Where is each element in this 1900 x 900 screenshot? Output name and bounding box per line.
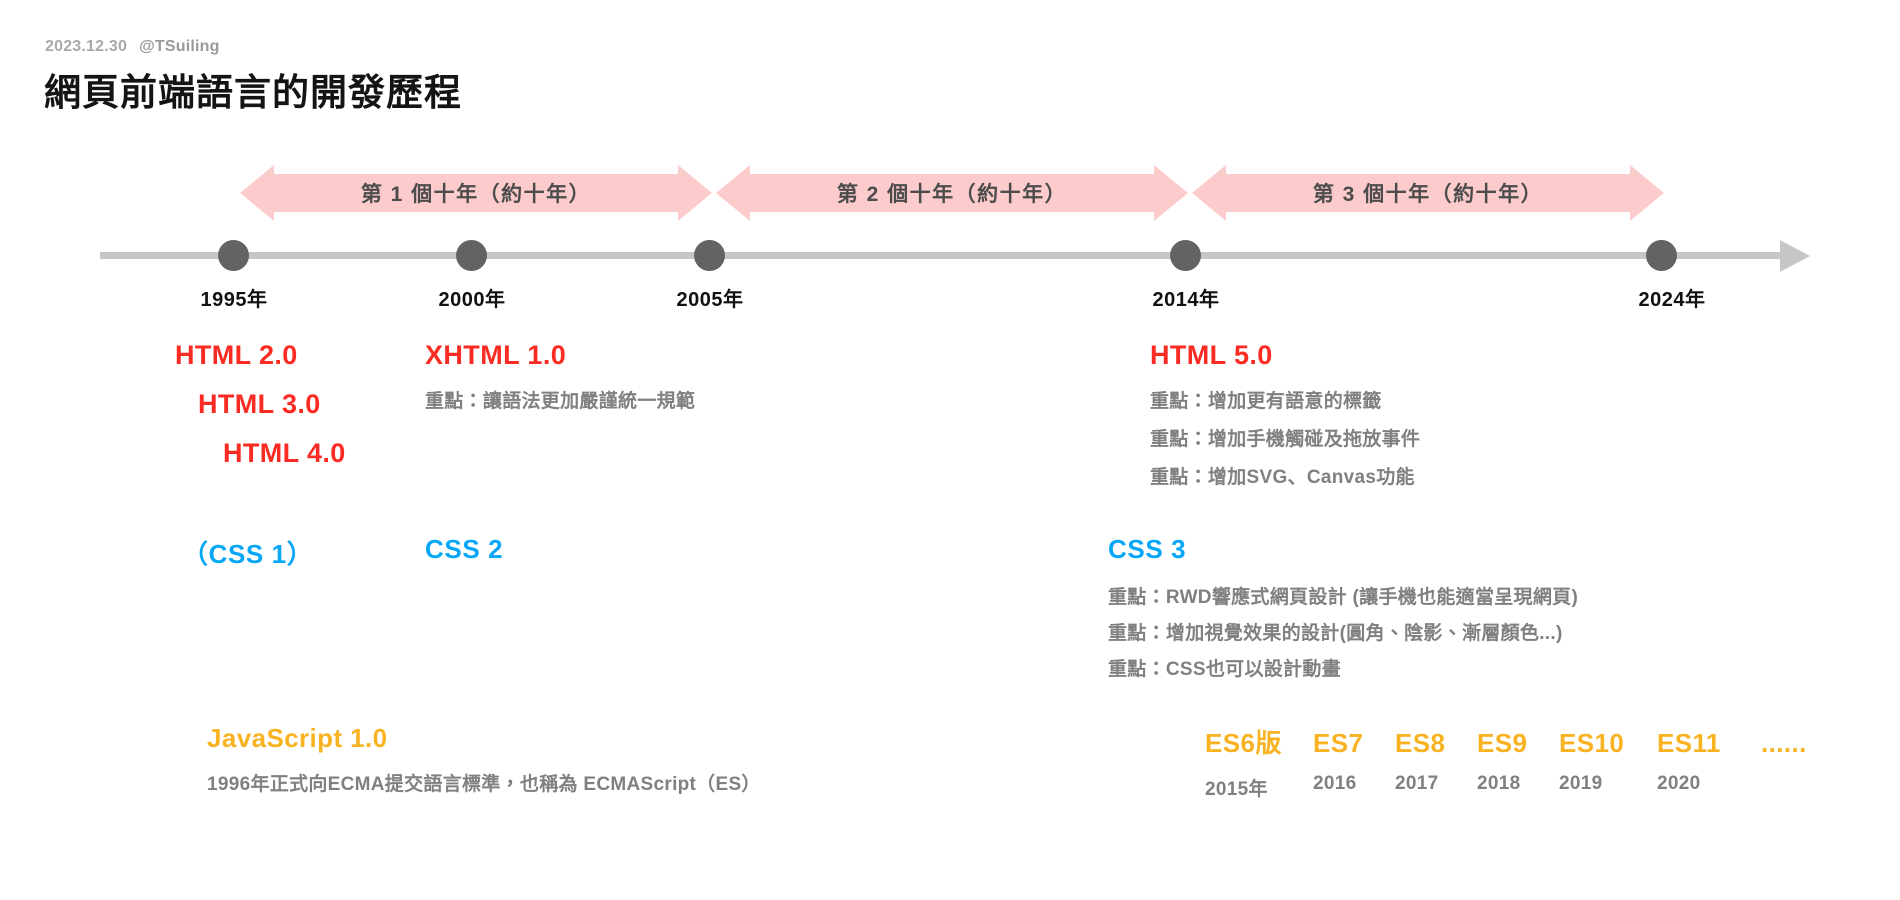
html-version-2: HTML 2.0 [175,340,298,371]
axis-year-label-4: 2014年 [1153,283,1220,312]
es-version-item: ES8 2017 [1395,728,1477,795]
xhtml-note-1: 重點：讓語法更加嚴謹統一規範 [425,382,695,421]
css1-title: （CSS 1） [182,534,313,571]
byline-date: 2023.12.30 [45,38,127,55]
css3-title: CSS 3 [1108,534,1186,565]
css3-note-2: 重點：增加視覺效果的設計(圓角、陰影、漸層顏色...) [1108,614,1563,653]
timeline-axis-line [100,252,1800,259]
timeline-dot-2005 [694,240,725,271]
es-version-year: 2016 [1313,773,1356,795]
javascript-title: JavaScript 1.0 [207,723,388,754]
css3-note-1: 重點：RWD響應式網頁設計 (讓手機也能適當呈現網頁) [1108,578,1578,617]
es-version-item: ES10 2019 [1559,728,1657,795]
axis-year-label-3: 2005年 [677,283,744,312]
es-version-item-ellipsis: ...... [1761,728,1807,773]
es-version-year: 2019 [1559,773,1602,795]
es-version-year: 2020 [1657,773,1700,795]
timeline-dot-1995 [218,240,249,271]
timeline-dot-2000 [456,240,487,271]
timeline-axis-arrowhead-icon [1780,240,1810,272]
decade-band-2: 第 2 個十年（約十年） [716,165,1188,221]
javascript-note: 1996年正式向ECMA提交語言標準，也稱為 ECMAScript（ES） [207,765,761,804]
html-version-4: HTML 4.0 [223,438,346,469]
html5-note-2: 重點：增加手機觸碰及拖放事件 [1150,420,1420,459]
es-version-name: ...... [1761,728,1807,759]
es-version-year: 2017 [1395,773,1438,795]
es-version-name: ES10 [1559,728,1624,759]
es-version-item: ES7 2016 [1313,728,1395,795]
axis-year-label-1: 1995年 [201,283,268,312]
byline: 2023.12.30@TSuiling [45,38,220,56]
css2-title: CSS 2 [425,534,503,565]
es-version-row: ES6版 2015年 ES7 2016 ES8 2017 ES9 2018 ES… [1205,723,1807,801]
es-version-item: ES11 2020 [1657,728,1761,795]
axis-year-label-5: 2024年 [1639,283,1706,312]
html-version-3: HTML 3.0 [198,389,321,420]
es-version-year: 2018 [1477,773,1520,795]
decade-band-3: 第 3 個十年（約十年） [1192,165,1664,221]
es-version-item: ES9 2018 [1477,728,1559,795]
axis-year-label-2: 2000年 [439,283,506,312]
html5-note-3: 重點：增加SVG、Canvas功能 [1150,458,1415,497]
decade-band-1: 第 1 個十年（約十年） [240,165,712,221]
timeline-dot-2024 [1646,240,1677,271]
decade-label-1: 第 1 個十年（約十年） [240,165,712,221]
es-version-name: ES11 [1657,728,1721,759]
es-version-name: ES9 [1477,728,1527,759]
es-version-name: ES8 [1395,728,1445,759]
xhtml-title: XHTML 1.0 [425,340,566,371]
decade-label-2: 第 2 個十年（約十年） [716,165,1188,221]
html5-note-1: 重點：增加更有語意的標籤 [1150,382,1382,421]
es-version-name: ES7 [1313,728,1363,759]
es-version-name: ES6版 [1205,723,1282,760]
diagram-canvas: 2023.12.30@TSuiling 網頁前端語言的開發歷程 第 1 個十年（… [0,0,1900,900]
page-title: 網頁前端語言的開發歷程 [44,62,462,116]
css3-note-3: 重點：CSS也可以設計動畫 [1108,650,1341,689]
html5-title: HTML 5.0 [1150,340,1273,371]
es-version-item: ES6版 2015年 [1205,723,1313,801]
byline-handle: @TSuiling [139,38,220,55]
es-version-year: 2015年 [1205,774,1268,801]
timeline-dot-2014 [1170,240,1201,271]
decade-label-3: 第 3 個十年（約十年） [1192,165,1664,221]
